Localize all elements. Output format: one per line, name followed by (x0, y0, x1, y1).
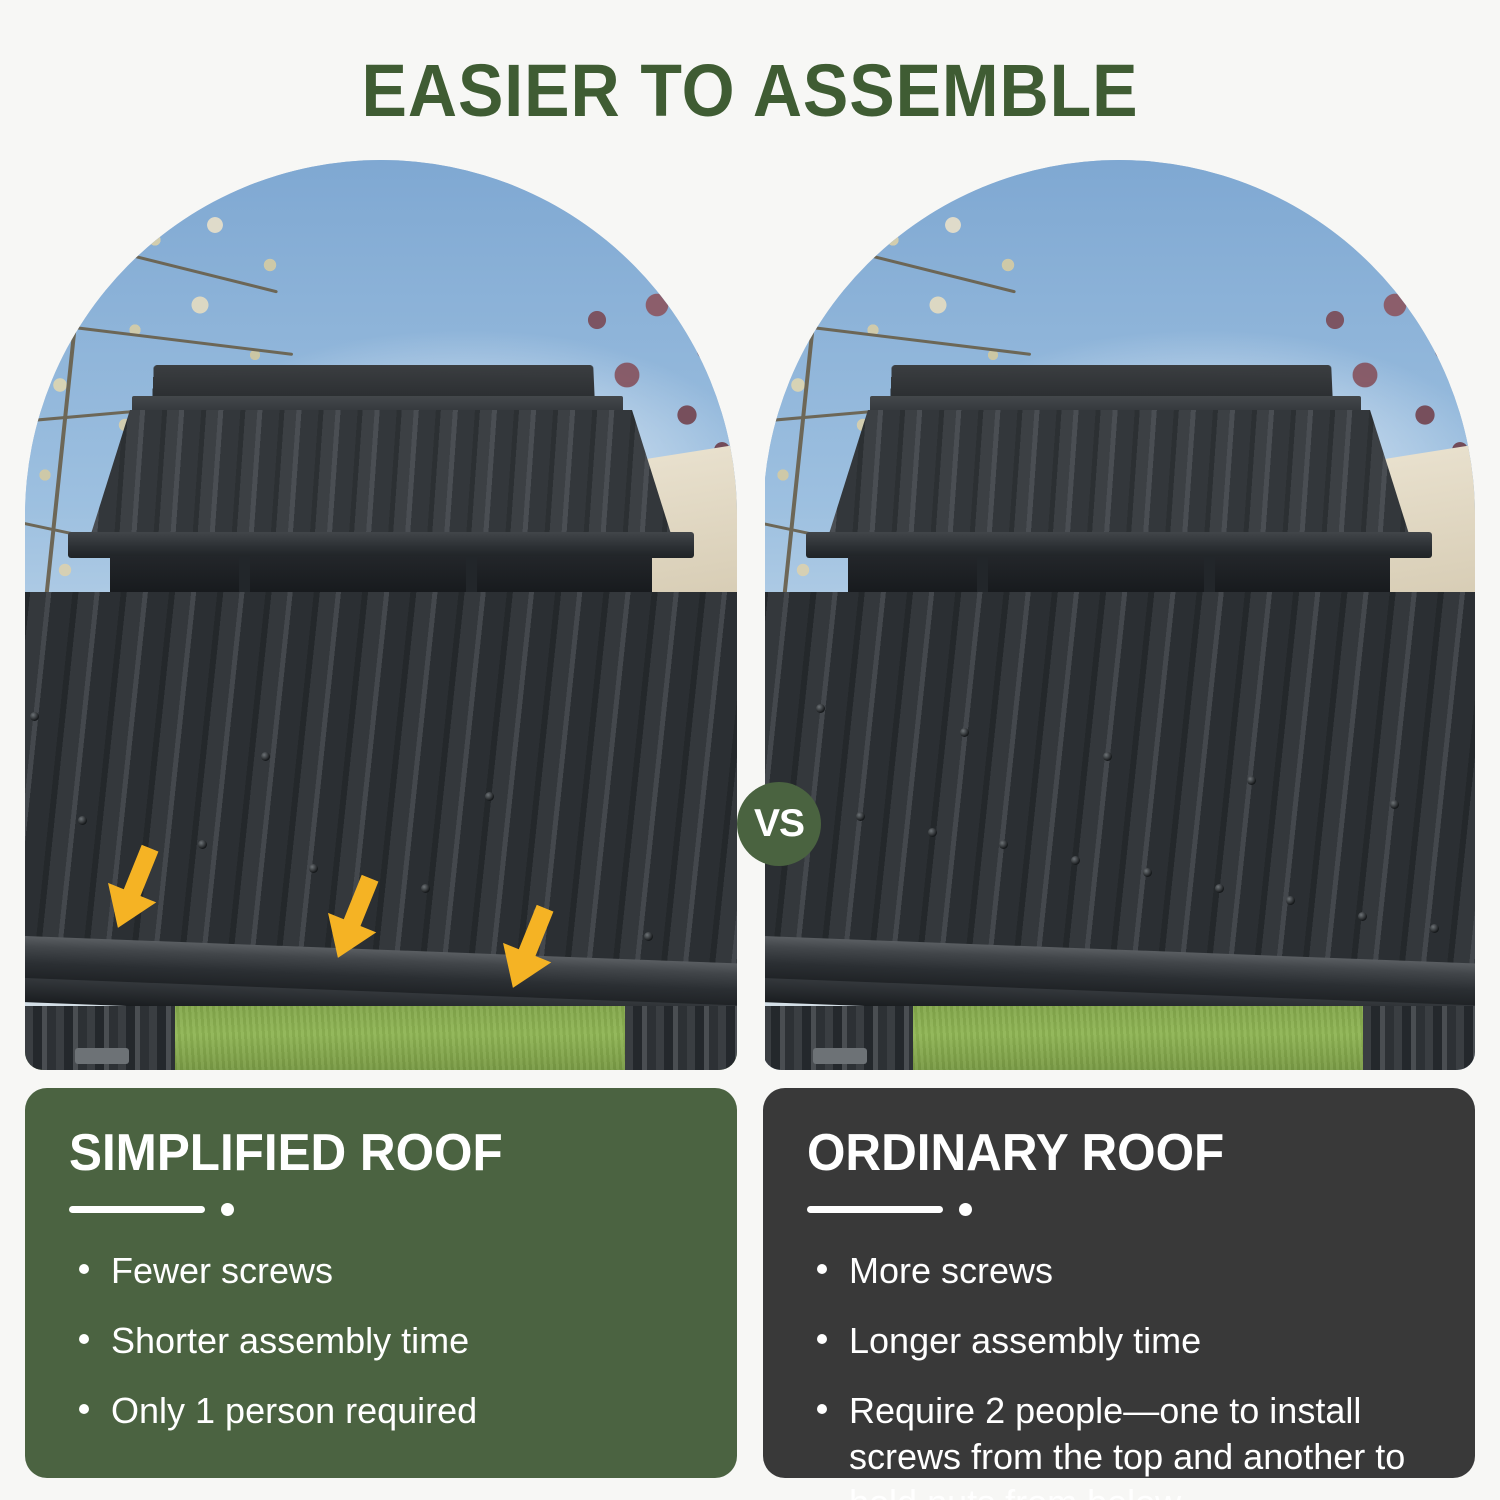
screw-row (763, 592, 1475, 992)
photo-comparison: VS (25, 160, 1475, 1070)
list-item: Shorter assembly time (69, 1318, 693, 1364)
curtain-tieback (75, 1048, 129, 1064)
page-title: EASIER TO ASSEMBLE (60, 48, 1440, 133)
simplified-roof-heading: SIMPLIFIED ROOF (69, 1126, 662, 1181)
vs-badge: VS (737, 782, 821, 866)
upper-roof-panel (827, 410, 1411, 540)
gazebo-curtain (1363, 1006, 1475, 1070)
photo-divider (743, 320, 765, 1230)
list-item: Fewer screws (69, 1248, 693, 1294)
curtain-tieback (813, 1048, 867, 1064)
infographic-page: EASIER TO ASSEMBLE (0, 0, 1500, 1500)
list-item: Only 1 person required (69, 1388, 693, 1434)
heading-divider (807, 1203, 1431, 1216)
upper-roof-eave (806, 532, 1433, 558)
gazebo-curtain (625, 1006, 737, 1070)
list-item: Longer assembly time (807, 1318, 1431, 1364)
list-item: More screws (807, 1248, 1431, 1294)
list-item: Require 2 people—one to install screws f… (807, 1388, 1431, 1500)
divider-dot (959, 1203, 972, 1216)
heading-divider (69, 1203, 693, 1216)
divider-bar (69, 1206, 205, 1213)
simplified-roof-photo (25, 160, 737, 1070)
lower-roof-panel (763, 592, 1475, 992)
divider-dot (221, 1203, 234, 1216)
ordinary-roof-bullets: More screws Longer assembly time Require… (807, 1248, 1431, 1500)
simplified-roof-panel: SIMPLIFIED ROOF Fewer screws Shorter ass… (25, 1088, 737, 1478)
ordinary-roof-panel: ORDINARY ROOF More screws Longer assembl… (763, 1088, 1475, 1478)
upper-roof-eave (68, 532, 695, 558)
simplified-roof-bullets: Fewer screws Shorter assembly time Only … (69, 1248, 693, 1434)
upper-roof-panel (89, 410, 673, 540)
gazebo-roof (763, 160, 1475, 1070)
ordinary-roof-photo (763, 160, 1475, 1070)
divider-bar (807, 1206, 943, 1213)
ordinary-roof-heading: ORDINARY ROOF (807, 1126, 1400, 1181)
